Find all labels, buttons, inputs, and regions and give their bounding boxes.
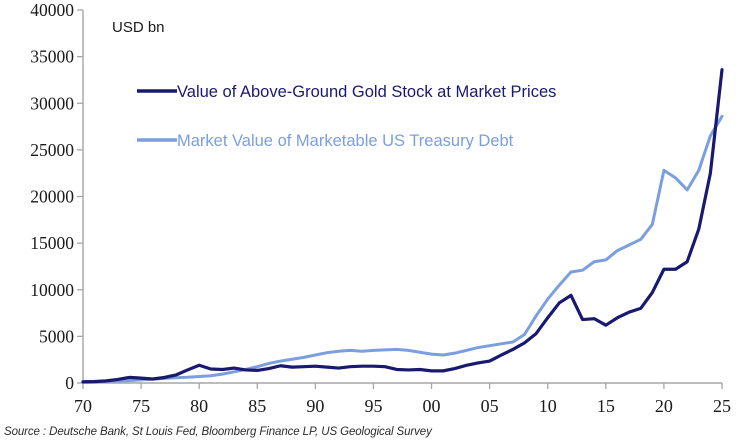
x-tick-label: 95	[364, 396, 382, 416]
unit-label: USD bn	[112, 19, 165, 36]
y-axis-tick-labels: 4000035000300002500020000150001000050000	[30, 0, 74, 393]
y-tick-label: 30000	[30, 93, 74, 113]
y-tick-label: 10000	[30, 280, 74, 300]
y-tick-label: 0	[65, 373, 74, 393]
series-line-treasury-debt	[83, 116, 722, 381]
series-paths	[83, 70, 722, 382]
y-tick-label: 20000	[30, 187, 74, 207]
y-tick-label: 40000	[30, 0, 74, 20]
legend-label: Market Value of Marketable US Treasury D…	[177, 132, 514, 150]
x-tick-label: 15	[597, 396, 615, 416]
y-tick-label: 5000	[39, 326, 74, 346]
chart-legend: Value of Above-Ground Gold Stock at Mark…	[137, 83, 556, 150]
x-tick-label: 70	[74, 396, 92, 416]
y-axis-ticks	[77, 10, 83, 383]
x-tick-label: 05	[481, 396, 499, 416]
x-tick-label: 80	[190, 396, 208, 416]
x-tick-label: 25	[713, 396, 731, 416]
x-tick-label: 90	[306, 396, 324, 416]
y-tick-label: 15000	[30, 233, 74, 253]
series-line-gold-stock	[83, 70, 722, 382]
chart-container: 4000035000300002500020000150001000050000…	[0, 0, 741, 447]
x-axis-ticks	[83, 383, 722, 389]
x-axis-tick-labels: 707580859095000510152025	[74, 396, 731, 416]
legend-label: Value of Above-Ground Gold Stock at Mark…	[177, 83, 556, 101]
x-tick-label: 75	[132, 396, 150, 416]
x-tick-label: 10	[539, 396, 557, 416]
x-tick-label: 00	[423, 396, 441, 416]
source-note: Source : Deutsche Bank, St Louis Fed, Bl…	[4, 426, 432, 438]
line-chart-plot: 4000035000300002500020000150001000050000…	[0, 0, 741, 447]
y-tick-label: 25000	[30, 140, 74, 160]
x-tick-label: 85	[248, 396, 266, 416]
y-tick-label: 35000	[30, 47, 74, 67]
x-tick-label: 20	[655, 396, 673, 416]
